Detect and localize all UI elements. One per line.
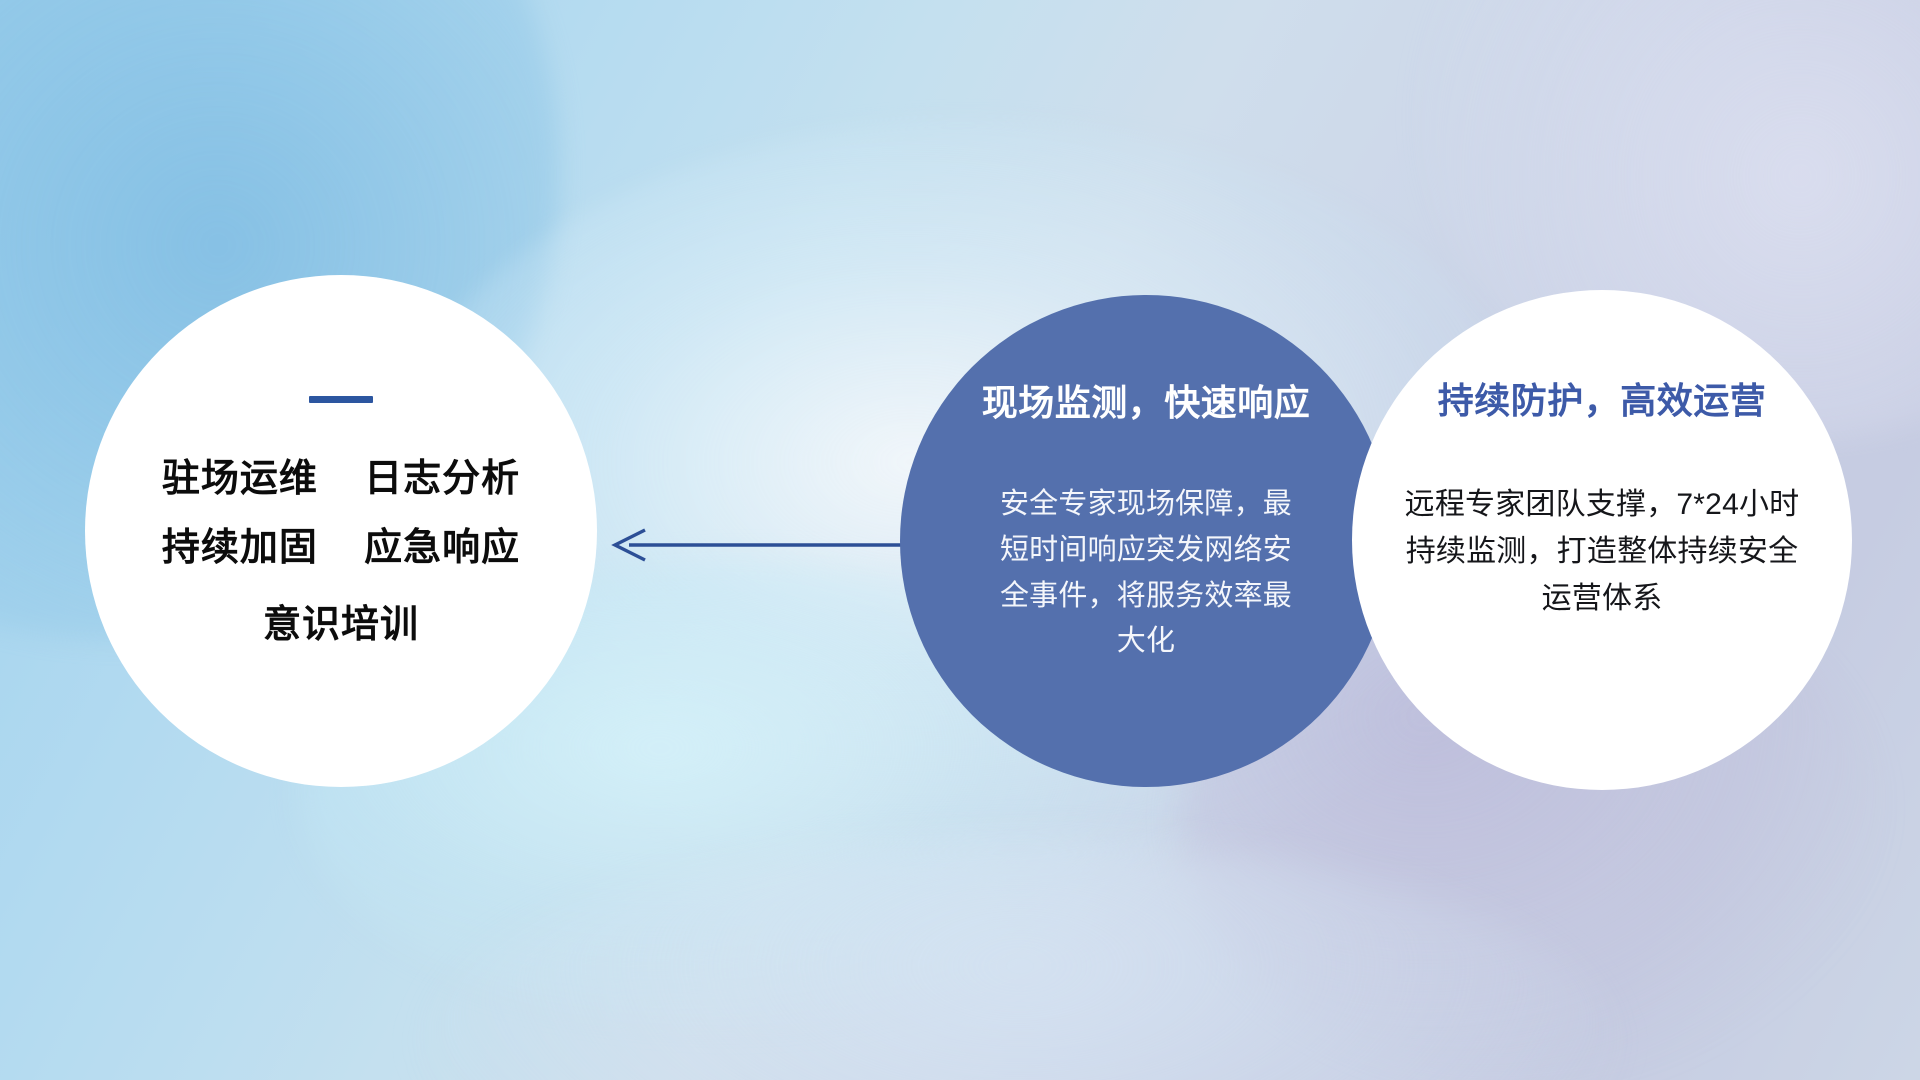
right-circle-shape[interactable]: [1352, 290, 1852, 790]
diagram-canvas: 驻场运维 日志分析 持续加固 应急响应 意识培训 现场监测，快速响应 安全专家现…: [0, 0, 1920, 1080]
left-circle-shape[interactable]: [85, 275, 597, 787]
middle-circle-shape[interactable]: [900, 295, 1392, 787]
